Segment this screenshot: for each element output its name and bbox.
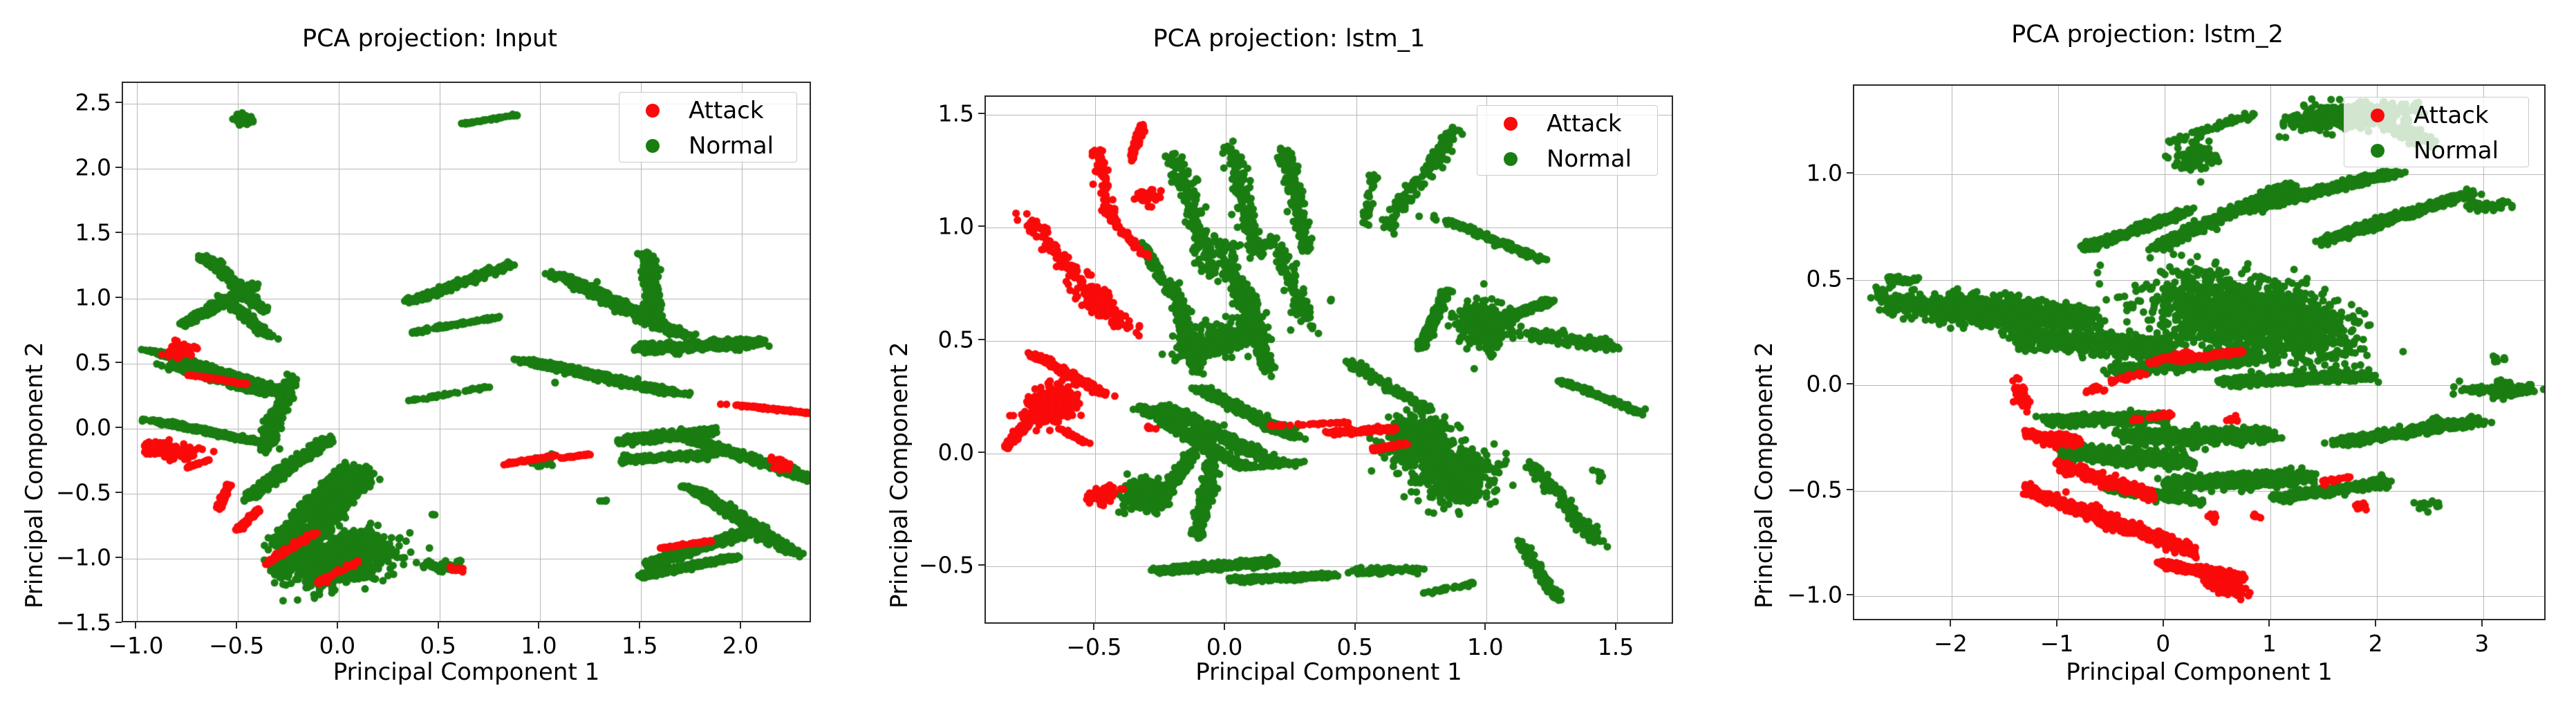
legend-label: Attack (689, 97, 764, 124)
pca-figure: PCA projection: Input−1.0−0.50.00.51.01.… (0, 0, 2576, 706)
pca-panel-1: PCA projection: Input−1.0−0.50.00.51.01.… (0, 0, 859, 706)
y-tick-mark (115, 622, 122, 623)
y-tick-label: 1.0 (877, 213, 974, 240)
x-axis-label: Principal Component 1 (984, 658, 1673, 686)
x-tick-mark (1093, 624, 1094, 630)
pca-panel-3: PCA projection: lstm_2−2−10123−1.0−0.50.… (1719, 0, 2576, 706)
legend: AttackNormal (619, 92, 797, 162)
x-tick-mark (740, 622, 741, 629)
y-tick-mark (1847, 489, 1853, 490)
circle-marker-normal (2371, 144, 2384, 158)
legend-label: Normal (689, 132, 774, 160)
legend: AttackNormal (2344, 97, 2529, 167)
panel-title: PCA projection: lstm_1 (859, 25, 1719, 53)
panel-title: PCA projection: lstm_2 (1719, 21, 2576, 48)
x-tick-mark (1354, 624, 1356, 630)
circle-marker-attack (2371, 109, 2384, 122)
y-tick-mark (978, 564, 984, 566)
x-tick-label: −1.0 (108, 632, 163, 659)
x-tick-label: −0.5 (209, 632, 264, 659)
y-axis-label: Principal Component 2 (886, 342, 913, 609)
y-tick-mark (1847, 594, 1853, 595)
scatter-canvas (123, 83, 811, 622)
y-tick-mark (115, 427, 122, 428)
x-tick-mark (2056, 620, 2057, 626)
y-tick-mark (115, 362, 122, 363)
circle-marker-attack (646, 104, 660, 118)
circle-marker-normal (1504, 152, 1518, 166)
y-tick-mark (115, 102, 122, 103)
y-axis-label: Principal Component 2 (1751, 342, 1778, 609)
legend: AttackNormal (1477, 105, 1658, 176)
y-tick-mark (115, 557, 122, 558)
x-tick-label: −1 (2040, 630, 2074, 657)
y-tick-mark (1847, 278, 1853, 279)
x-tick-mark (236, 622, 237, 629)
y-tick-mark (115, 232, 122, 233)
y-tick-mark (978, 113, 984, 114)
x-tick-mark (2375, 620, 2376, 626)
x-tick-label: −0.5 (1066, 633, 1121, 660)
x-tick-label: 1.0 (521, 632, 557, 659)
x-tick-label: 2 (2369, 630, 2383, 657)
plot-area (122, 82, 811, 622)
circle-marker-attack (1504, 117, 1518, 131)
x-tick-label: 1.0 (1467, 633, 1503, 660)
y-tick-mark (978, 339, 984, 340)
x-tick-label: 1.5 (622, 632, 657, 659)
y-tick-mark (1847, 172, 1853, 174)
legend-label: Normal (1547, 145, 1632, 173)
y-tick-label: 1.0 (1746, 160, 1842, 187)
y-tick-mark (115, 297, 122, 298)
y-tick-label: −1.5 (15, 609, 111, 636)
x-axis-label: Principal Component 1 (1853, 658, 2546, 686)
x-tick-mark (135, 622, 136, 629)
x-tick-label: 2.0 (722, 632, 758, 659)
x-tick-mark (538, 622, 539, 629)
pca-panel-2: PCA projection: lstm_1−0.50.00.51.01.5−0… (859, 0, 1719, 706)
x-tick-mark (337, 622, 338, 629)
panel-title: PCA projection: Input (0, 25, 859, 53)
y-tick-label: 2.5 (15, 89, 111, 116)
x-tick-label: −2 (1934, 630, 1968, 657)
x-tick-label: 0 (2156, 630, 2170, 657)
legend-label: Attack (1547, 110, 1622, 138)
x-tick-mark (1950, 620, 1951, 626)
circle-marker-normal (646, 139, 660, 153)
x-tick-mark (2163, 620, 2164, 626)
y-tick-label: 1.0 (15, 284, 111, 311)
x-tick-label: 0.0 (319, 632, 355, 659)
legend-label: Attack (2414, 102, 2489, 129)
y-tick-label: 0.5 (1746, 265, 1842, 292)
x-tick-label: 0.0 (1206, 633, 1242, 660)
x-tick-label: 1 (2262, 630, 2277, 657)
x-tick-mark (1484, 624, 1486, 630)
scatter-canvas (986, 97, 1673, 624)
y-tick-label: 1.5 (15, 219, 111, 246)
x-tick-mark (2268, 620, 2270, 626)
x-tick-mark (2481, 620, 2483, 626)
x-tick-mark (639, 622, 640, 629)
y-tick-label: 2.0 (15, 154, 111, 181)
y-tick-mark (115, 492, 122, 493)
y-tick-label: 1.5 (877, 100, 974, 127)
legend-label: Normal (2414, 137, 2499, 165)
x-tick-mark (1224, 624, 1225, 630)
x-tick-label: 1.5 (1598, 633, 1634, 660)
y-tick-mark (1847, 383, 1853, 384)
y-tick-mark (978, 225, 984, 227)
x-tick-label: 3 (2474, 630, 2489, 657)
x-tick-mark (1615, 624, 1616, 630)
x-tick-label: 0.5 (420, 632, 456, 659)
x-tick-mark (438, 622, 439, 629)
y-tick-mark (115, 167, 122, 168)
y-tick-mark (978, 452, 984, 453)
x-tick-label: 0.5 (1336, 633, 1372, 660)
y-axis-label: Principal Component 2 (21, 342, 48, 609)
x-axis-label: Principal Component 1 (122, 658, 811, 686)
